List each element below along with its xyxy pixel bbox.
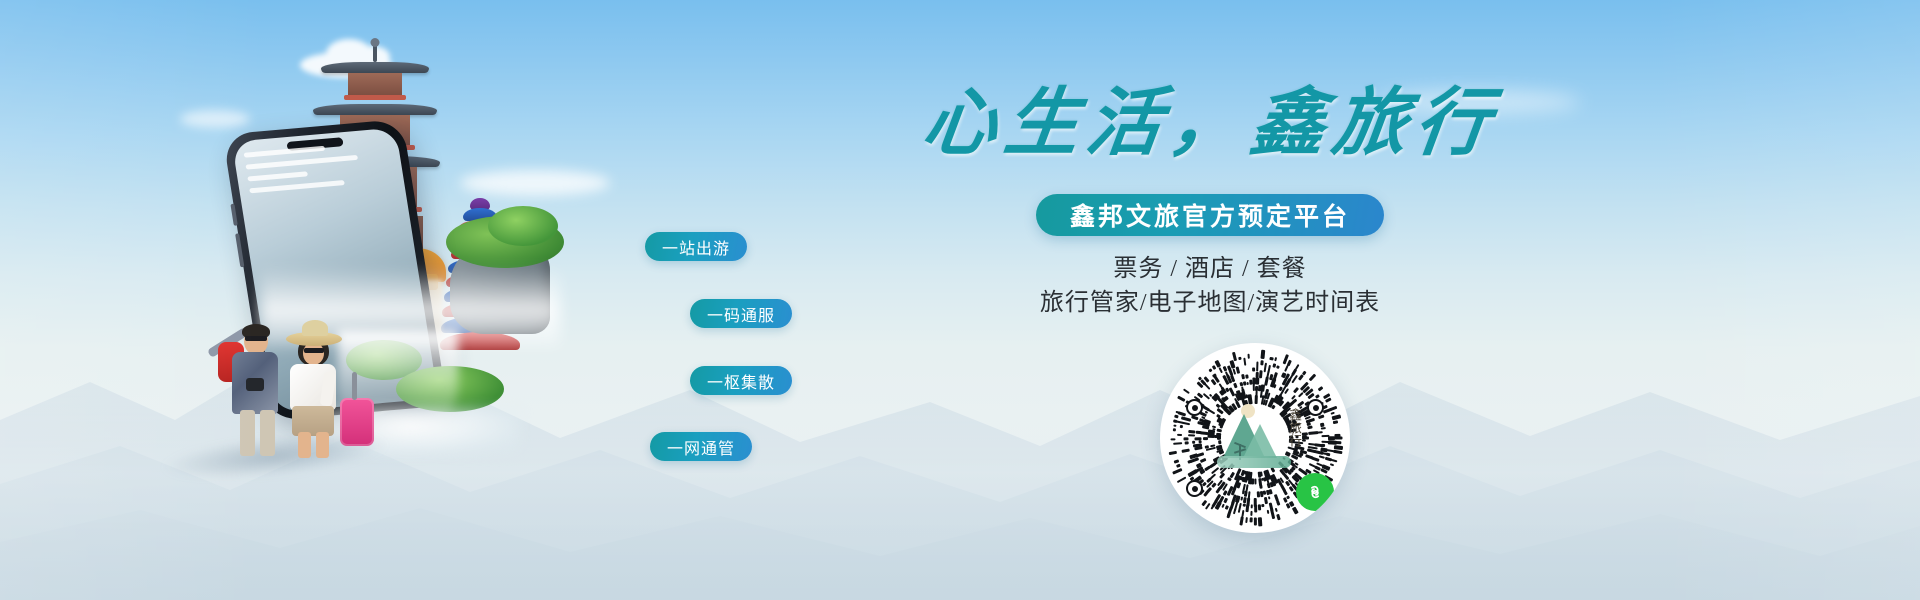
travel-promo-banner: 一站出游 一码通服 一枢集散 一网通管 心生活，鑫旅行 鑫邦文旅官方预定平台 票… <box>0 0 1920 600</box>
foliage-icon <box>488 206 558 246</box>
platform-badge-label: 鑫邦文旅官方预定平台 <box>1070 197 1350 233</box>
brand-logo-icon: 鑫旅行 <box>1213 402 1297 474</box>
brand-logo-text: 鑫旅行 <box>1285 408 1301 447</box>
platform-badge[interactable]: 鑫邦文旅官方预定平台 <box>1036 194 1384 236</box>
services-line-1: 票务 / 酒店 / 套餐 <box>820 248 1600 283</box>
badge-row: 鑫邦文旅官方预定平台 <box>820 194 1600 236</box>
qr-eye-icon <box>1186 480 1203 497</box>
feature-pill-2[interactable]: 一码通服 <box>690 299 792 328</box>
feature-pill-label: 一码通服 <box>707 302 775 326</box>
qr-eye-icon <box>1186 399 1203 416</box>
banner-content-panel: 心生活，鑫旅行 鑫邦文旅官方预定平台 票务 / 酒店 / 套餐 旅行管家/电子地… <box>1010 0 1610 600</box>
banner-headline: 心生活，鑫旅行 <box>815 86 1605 164</box>
feature-pill-label: 一站出游 <box>662 235 730 259</box>
feature-pill-label: 一网通管 <box>667 435 735 459</box>
suitcase-icon <box>340 398 374 446</box>
services-line-2: 旅行管家/电子地图/演艺时间表 <box>820 282 1600 317</box>
feature-pill-3[interactable]: 一枢集散 <box>690 366 792 395</box>
feature-pill-label: 一枢集散 <box>707 369 775 393</box>
phone-scenery-collage <box>150 30 710 480</box>
feature-pill-4[interactable]: 一网通管 <box>650 432 752 461</box>
tourist-couple-icon <box>190 280 390 480</box>
wechat-miniprogram-qr-code[interactable]: 鑫旅行 <box>1160 343 1350 533</box>
qr-eye-icon <box>1307 399 1324 416</box>
wechat-miniprogram-icon <box>1296 473 1334 511</box>
feature-pill-1[interactable]: 一站出游 <box>645 232 747 261</box>
